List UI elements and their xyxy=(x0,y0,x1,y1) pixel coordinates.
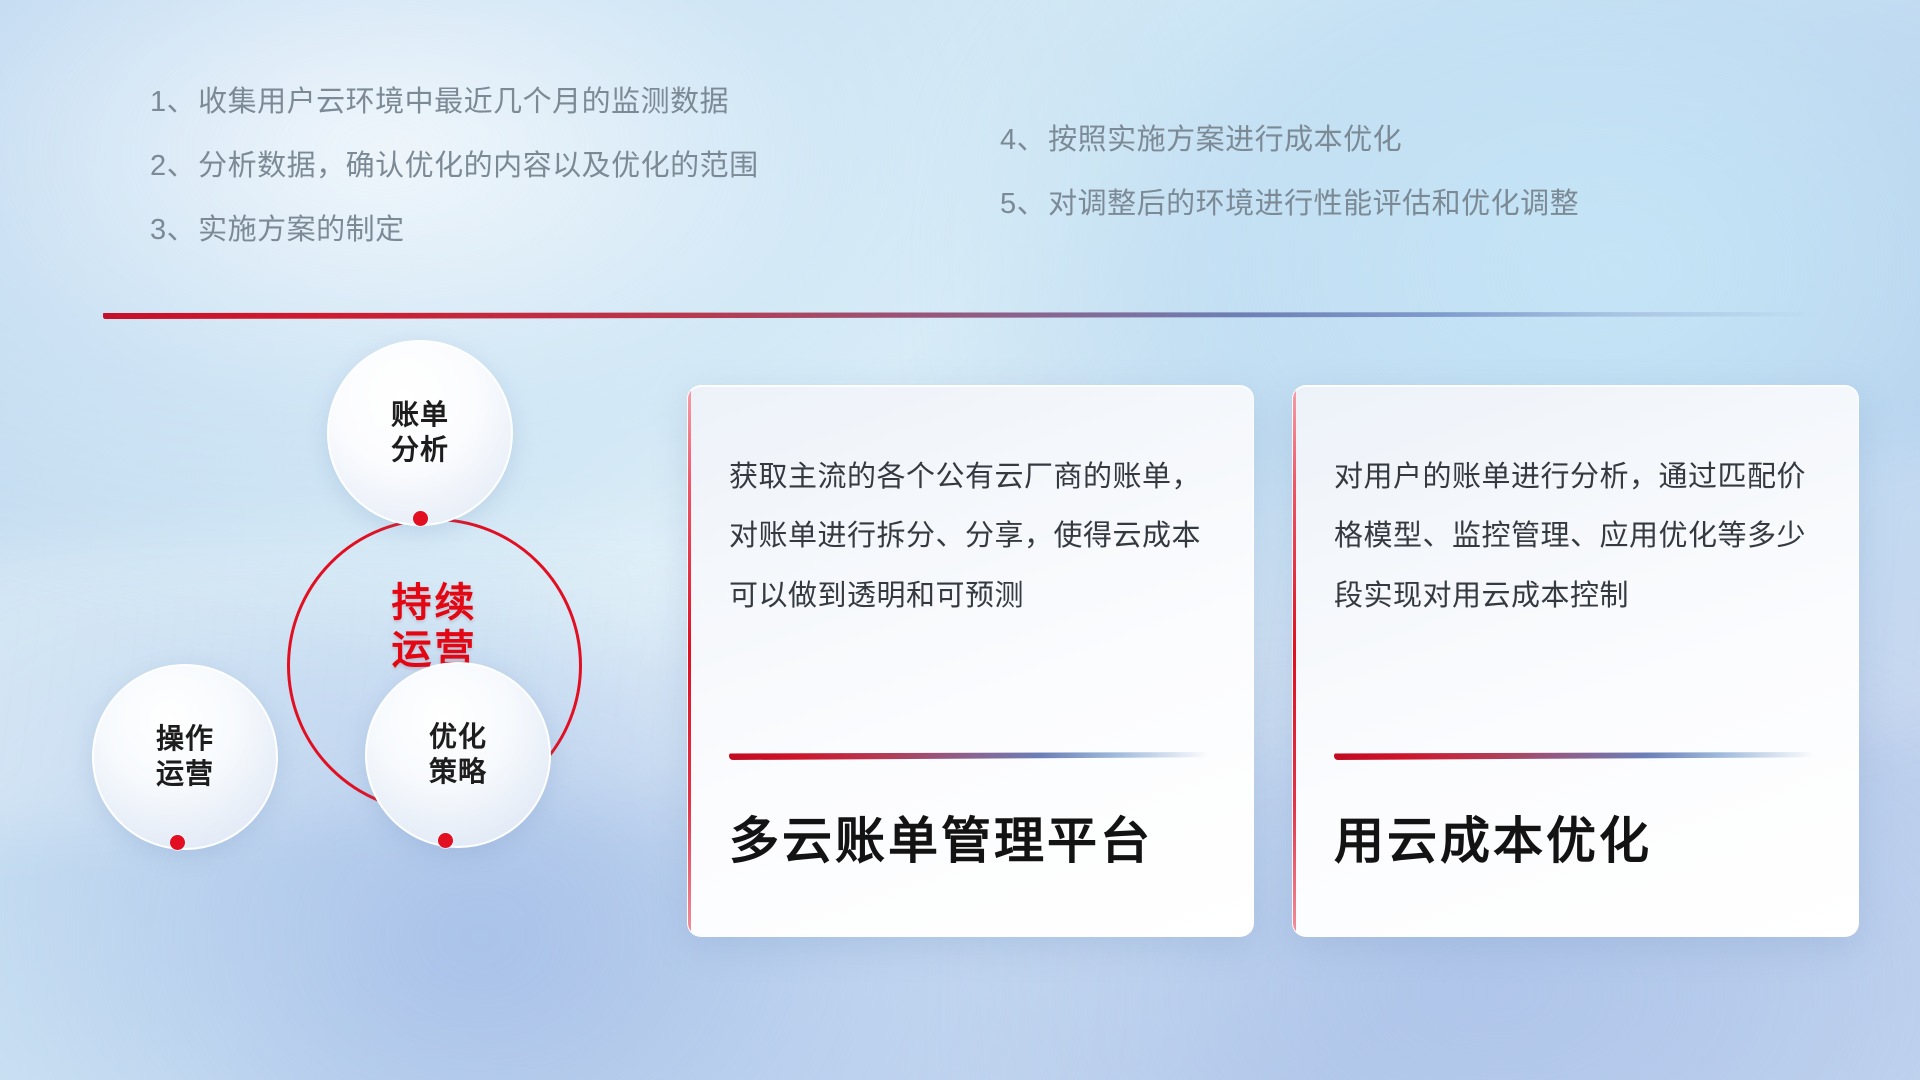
bubble-label-line-1: 优化 xyxy=(429,720,487,755)
list-item-label: 实施方案的制定 xyxy=(198,216,405,245)
list-item-number: 3、 xyxy=(150,216,196,245)
center-label-line-1: 持续 xyxy=(287,580,582,627)
bubble-label-line-2: 分析 xyxy=(391,433,449,468)
feature-card-multi-cloud-bill-platform[interactable]: 获取主流的各个公有云厂商的账单，对账单进行拆分、分享，使得云成本可以做到透明和可… xyxy=(687,385,1254,937)
diagram-node-dot-top xyxy=(413,511,428,526)
bubble-label-line-2: 策略 xyxy=(429,755,487,790)
list-item-number: 5、 xyxy=(1000,190,1046,219)
steps-column-left: 1、 收集用户云环境中最近几个月的监测数据 2、 分析数据，确认优化的内容以及优… xyxy=(150,88,850,280)
diagram-bubble-optimization-strategy[interactable]: 优化 策略 xyxy=(365,662,551,848)
continuous-operation-diagram: 持续 运营 账单 分析 操作 运营 优化 策略 xyxy=(95,350,575,950)
process-steps-list: 1、 收集用户云环境中最近几个月的监测数据 2、 分析数据，确认优化的内容以及优… xyxy=(0,88,1920,248)
list-item-label: 收集用户云环境中最近几个月的监测数据 xyxy=(198,88,729,117)
list-item-label: 对调整后的环境进行性能评估和优化调整 xyxy=(1048,190,1579,219)
card-body-text: 获取主流的各个公有云厂商的账单，对账单进行拆分、分享，使得云成本可以做到透明和可… xyxy=(729,448,1219,626)
list-item-number: 2、 xyxy=(150,152,196,181)
list-item-label: 分析数据，确认优化的内容以及优化的范围 xyxy=(198,152,759,181)
list-item-number: 4、 xyxy=(1000,126,1046,155)
bubble-label-line-1: 账单 xyxy=(391,398,449,433)
diagram-center-label: 持续 运营 xyxy=(287,580,582,674)
steps-column-right: 4、 按照实施方案进行成本优化 5、 对调整后的环境进行性能评估和优化调整 xyxy=(1000,126,1760,254)
card-accent-rule xyxy=(1334,752,1814,760)
feature-card-cloud-cost-optimization[interactable]: 对用户的账单进行分析，通过匹配价格模型、监控管理、应用优化等多少段实现对用云成本… xyxy=(1292,385,1859,937)
list-item: 3、 实施方案的制定 xyxy=(150,216,850,245)
card-title: 多云账单管理平台 xyxy=(729,801,1225,873)
card-body-text: 对用户的账单进行分析，通过匹配价格模型、监控管理、应用优化等多少段实现对用云成本… xyxy=(1334,448,1824,626)
list-item-number: 1、 xyxy=(150,88,196,117)
diagram-bubble-bill-analysis[interactable]: 账单 分析 xyxy=(327,340,513,526)
bubble-label-line-1: 操作 xyxy=(156,722,214,757)
list-item: 2、 分析数据，确认优化的内容以及优化的范围 xyxy=(150,152,850,181)
diagram-node-dot-bottom-right xyxy=(438,833,453,848)
slide-canvas: 1、 收集用户云环境中最近几个月的监测数据 2、 分析数据，确认优化的内容以及优… xyxy=(0,0,1920,1080)
list-item-label: 按照实施方案进行成本优化 xyxy=(1048,126,1402,155)
list-item: 4、 按照实施方案进行成本优化 xyxy=(1000,126,1760,155)
diagram-node-dot-bottom-left xyxy=(170,835,185,850)
bubble-label-line-2: 运营 xyxy=(156,757,214,792)
card-accent-rule xyxy=(729,752,1209,760)
card-title: 用云成本优化 xyxy=(1334,801,1830,873)
list-item: 1、 收集用户云环境中最近几个月的监测数据 xyxy=(150,88,850,117)
list-item: 5、 对调整后的环境进行性能评估和优化调整 xyxy=(1000,190,1760,219)
diagram-bubble-operation[interactable]: 操作 运营 xyxy=(92,664,278,850)
